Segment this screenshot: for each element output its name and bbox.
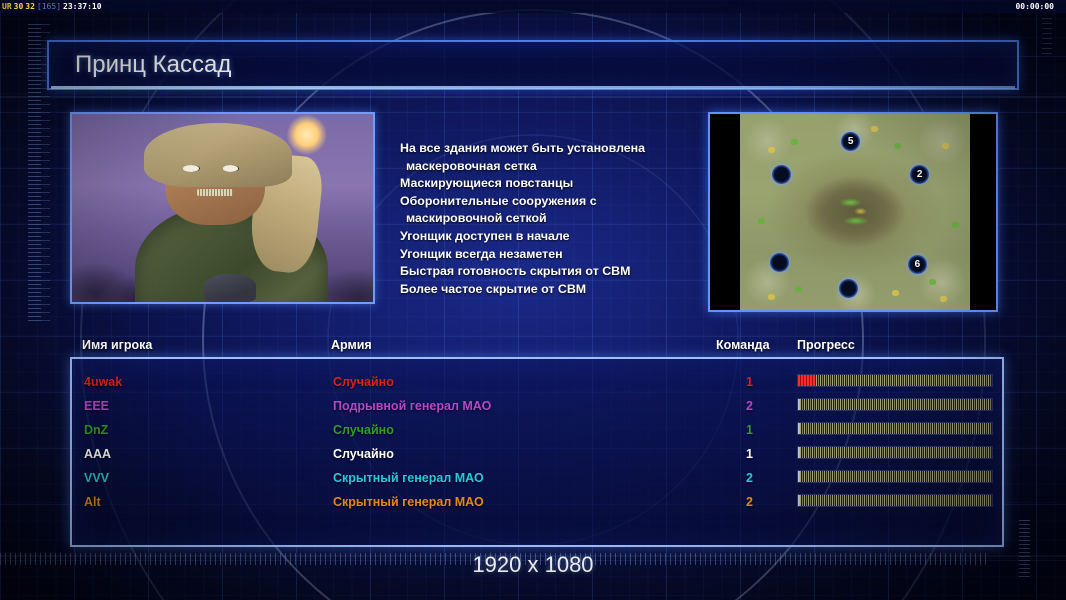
player-table-header: Имя игрока Армия Команда Прогресс [0, 338, 1066, 358]
player-army[interactable]: Случайно [333, 447, 394, 461]
ruler-ticks-left [28, 24, 41, 324]
player-name: DnZ [84, 423, 108, 437]
ability-line: На все здания может быть установлена [400, 140, 700, 158]
progress-marker [798, 495, 800, 506]
status-tag: UR [2, 2, 12, 11]
page-title: Принц Кассад [49, 51, 231, 79]
ability-line: Угонщик всегда незаметен [400, 246, 700, 264]
table-row[interactable]: AAAСлучайно1 [72, 442, 1002, 466]
portrait-headwrap [144, 123, 291, 187]
player-team[interactable]: 2 [746, 399, 753, 413]
column-header-progress: Прогресс [797, 338, 855, 352]
game-lobby-screen: UR 30 32 [165] 23:37:10 00:00:00 Принц К… [0, 0, 1066, 600]
progress-marker [798, 423, 800, 434]
player-team[interactable]: 2 [746, 495, 753, 509]
column-header-team: Команда [716, 338, 770, 352]
ability-line: Угонщик доступен в начале [400, 228, 700, 246]
progress-track [798, 375, 992, 386]
ruler-ticks-top-right [1042, 18, 1052, 58]
portrait-foreground-object [204, 274, 255, 302]
column-header-name: Имя игрока [82, 338, 152, 352]
player-name: Alt [84, 495, 101, 509]
progress-track [798, 399, 992, 410]
player-army[interactable]: Скрытный генерал МАО [333, 495, 484, 509]
ability-line: маскировочной сеткой [400, 210, 700, 228]
ability-line: Более частое скрытие от СВМ [400, 281, 700, 299]
player-team[interactable]: 1 [746, 447, 753, 461]
player-army[interactable]: Случайно [333, 423, 394, 437]
table-row[interactable]: EEEПодрывной генерал МАО2 [72, 394, 1002, 418]
player-list-panel: 4uwakСлучайно1EEEПодрывной генерал МАО2D… [70, 357, 1004, 547]
map-center-vegetation [832, 195, 878, 229]
progress-marker [798, 447, 800, 458]
portrait-teeth [197, 189, 233, 196]
map-start-position[interactable] [772, 165, 791, 184]
player-name: EEE [84, 399, 109, 413]
player-army[interactable]: Скрытный генерал МАО [333, 471, 484, 485]
player-army[interactable]: Случайно [333, 375, 394, 389]
progress-marker [798, 471, 800, 482]
debug-status-bar: UR 30 32 [165] 23:37:10 00:00:00 [0, 0, 1066, 13]
portrait-eye-left [183, 165, 200, 172]
resolution-label: 1920 x 1080 [0, 552, 1066, 578]
progress-track [798, 447, 992, 458]
player-progress-bar [797, 374, 993, 387]
map-preview[interactable]: 5 2 6 [708, 112, 998, 312]
ability-line: Быстрая готовность скрытия от СВМ [400, 263, 700, 281]
progress-marker [798, 399, 800, 410]
map-start-position[interactable]: 2 [910, 165, 929, 184]
player-army[interactable]: Подрывной генерал МАО [333, 399, 491, 413]
column-header-army: Армия [331, 338, 372, 352]
progress-track [798, 471, 992, 482]
map-preview-image: 5 2 6 [740, 114, 970, 310]
ability-line: маскеровочная сетка [400, 158, 700, 176]
table-row[interactable]: VVVСкрытный генерал МАО2 [72, 466, 1002, 490]
player-progress-bar [797, 470, 993, 483]
map-start-position[interactable] [839, 279, 858, 298]
table-row[interactable]: AltСкрытный генерал МАО2 [72, 490, 1002, 514]
ability-line: Оборонительные сооружения с [400, 193, 700, 211]
status-clock: 23:37:10 [63, 2, 102, 11]
progress-fill [798, 375, 815, 386]
general-portrait-image [72, 114, 373, 302]
player-progress-bar [797, 422, 993, 435]
map-start-position[interactable]: 5 [841, 132, 860, 151]
status-bracket: [165] [37, 2, 61, 11]
player-name: 4uwak [84, 375, 122, 389]
player-name: VVV [84, 471, 109, 485]
table-row[interactable]: 4uwakСлучайно1 [72, 370, 1002, 394]
general-portrait-frame [70, 112, 375, 304]
general-info-panel: На все здания может быть установлена мас… [70, 112, 998, 324]
status-fps-alt: 32 [25, 2, 35, 11]
map-start-position[interactable] [770, 253, 789, 272]
player-progress-bar [797, 398, 993, 411]
progress-track [798, 423, 992, 434]
portrait-eye-right [223, 165, 240, 172]
player-progress-bar [797, 494, 993, 507]
player-team[interactable]: 2 [746, 471, 753, 485]
title-panel: Принц Кассад [47, 40, 1019, 90]
map-start-position[interactable]: 6 [908, 255, 927, 274]
player-team[interactable]: 1 [746, 375, 753, 389]
general-ability-list: На все здания может быть установлена мас… [400, 140, 700, 298]
player-name: AAA [84, 447, 111, 461]
table-row[interactable]: DnZСлучайно1 [72, 418, 1002, 442]
status-clock-right: 00:00:00 [1015, 2, 1054, 11]
player-team[interactable]: 1 [746, 423, 753, 437]
player-progress-bar [797, 446, 993, 459]
progress-track [798, 495, 992, 506]
ability-line: Маскирующиеся повстанцы [400, 175, 700, 193]
status-fps: 30 [14, 2, 24, 11]
